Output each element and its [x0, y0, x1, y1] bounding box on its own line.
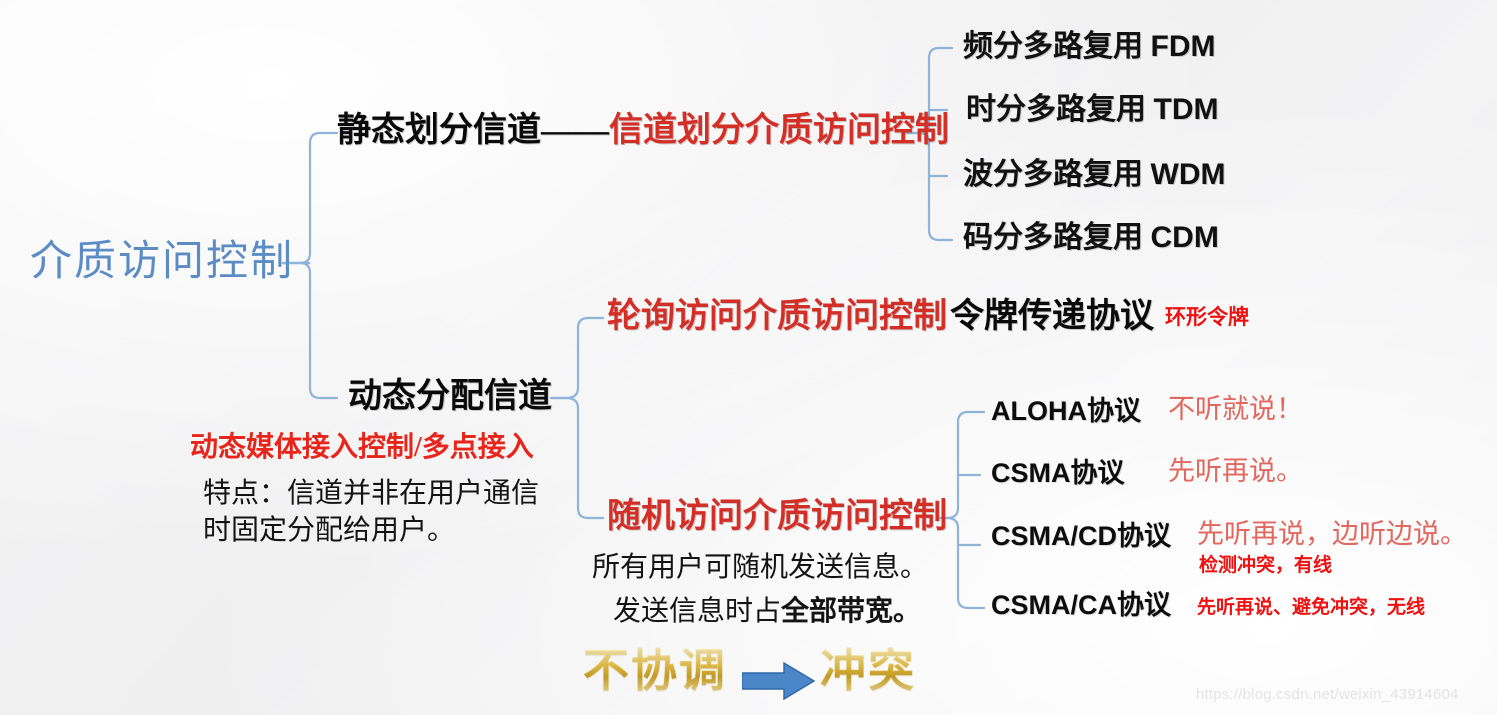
note-csma: 先听再说。	[1168, 458, 1303, 485]
node-polling-access[interactable]: 轮询访问介质访问控制	[607, 300, 947, 334]
subnote-csma-cd: 检测冲突，有线	[1199, 556, 1332, 575]
leaf-fdm[interactable]: 频分多路复用 FDM	[963, 32, 1215, 62]
note-ring-token: 环形令牌	[1165, 307, 1249, 328]
protocol-csma-name: CSMA	[991, 458, 1071, 488]
dynamic-description: 特点：信道并非在用户通信 时固定分配给用户。	[203, 476, 539, 550]
protocol-csma-cd[interactable]: CSMA/CD协议	[991, 523, 1171, 550]
protocol-csma-ca-name: CSMA/CA	[991, 590, 1117, 620]
random-description-line1: 所有用户可随机发送信息。	[592, 550, 928, 587]
footer-left-word: 不协调	[583, 648, 727, 694]
root-node[interactable]: 介质访问控制	[30, 241, 294, 283]
node-static-channel-label: 静态划分信道——	[337, 112, 609, 149]
protocol-aloha[interactable]: ALOHA协议	[991, 398, 1141, 425]
random-description-line2-bold: 全部带宽。	[781, 596, 921, 627]
footer-right-word: 冲突	[820, 648, 916, 694]
random-description-line2-prefix: 发送信息时占	[613, 596, 781, 627]
leaf-cdm[interactable]: 码分多路复用 CDM	[963, 223, 1219, 253]
node-static-channel-red-label: 信道划分介质访问控制	[609, 112, 949, 149]
dynamic-alias-text: 动态媒体接入控制/多点接入	[190, 434, 534, 462]
leaf-tdm-abbr: TDM	[1154, 93, 1219, 126]
leaf-fdm-abbr: FDM	[1151, 30, 1216, 63]
node-random-access[interactable]: 随机访问介质访问控制	[607, 500, 947, 534]
arrow-right-icon	[742, 661, 816, 706]
protocol-aloha-name: ALOHA	[991, 396, 1087, 426]
mindmap-canvas: 介质访问控制 静态划分信道——信道划分介质访问控制 频分多路复用 FDM 时分多…	[0, 0, 1497, 715]
leaf-wdm-cn: 波分多路复用	[963, 158, 1143, 191]
leaf-tdm[interactable]: 时分多路复用 TDM	[966, 95, 1218, 125]
protocol-aloha-suffix: 协议	[1087, 396, 1141, 426]
protocol-csma-cd-suffix: 协议	[1117, 521, 1171, 551]
dynamic-description-line2: 时固定分配给用户。	[203, 513, 539, 550]
protocol-csma-suffix: 协议	[1071, 458, 1125, 488]
leaf-cdm-cn: 码分多路复用	[963, 221, 1143, 254]
note-aloha: 不听就说！	[1168, 396, 1303, 423]
dynamic-description-line1: 特点：信道并非在用户通信	[203, 476, 539, 513]
subnote-csma-ca: 先听再说、避免冲突，无线	[1197, 598, 1425, 617]
note-csma-cd: 先听再说，边听边说。	[1197, 521, 1467, 548]
protocol-csma-cd-name: CSMA/CD	[991, 521, 1117, 551]
protocol-csma-ca[interactable]: CSMA/CA协议	[991, 592, 1171, 619]
leaf-fdm-cn: 频分多路复用	[963, 30, 1143, 63]
leaf-wdm-abbr: WDM	[1151, 158, 1226, 191]
node-token-passing-protocol[interactable]: 令牌传递协议	[950, 300, 1154, 334]
node-static-channel[interactable]: 静态划分信道——信道划分介质访问控制	[337, 114, 949, 148]
node-dynamic-channel[interactable]: 动态分配信道	[348, 380, 552, 414]
random-description-line2: 发送信息时占全部带宽。	[613, 594, 921, 631]
leaf-cdm-abbr: CDM	[1151, 221, 1219, 254]
leaf-wdm[interactable]: 波分多路复用 WDM	[963, 160, 1225, 190]
watermark: https://blog.csdn.net/weixin_43914604	[1196, 686, 1459, 703]
protocol-csma[interactable]: CSMA协议	[991, 460, 1125, 487]
leaf-tdm-cn: 时分多路复用	[966, 93, 1146, 126]
protocol-csma-ca-suffix: 协议	[1117, 590, 1171, 620]
